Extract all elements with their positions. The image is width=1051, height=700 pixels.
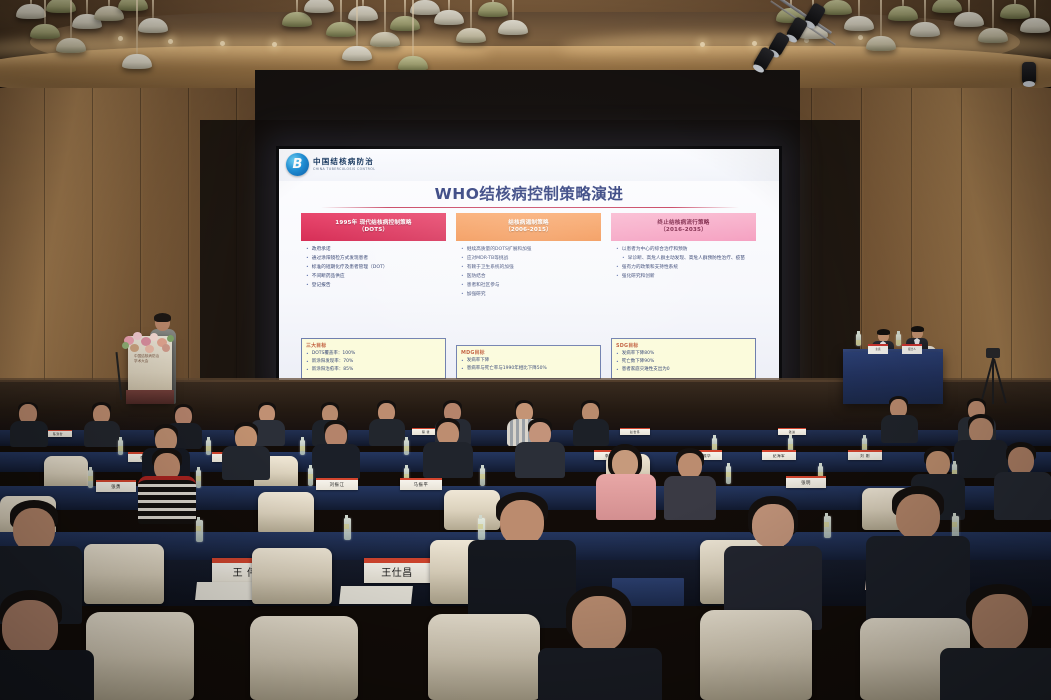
water-bottle (896, 334, 901, 346)
water-bottle (404, 440, 409, 455)
camera-tripod (978, 348, 1008, 404)
water-bottle (308, 468, 313, 486)
conference-hall-photo: B 中国结核病防治 CHINA TUBERCULOSIS CONTROL WHO… (0, 0, 1051, 700)
bullet-text: 患者和社区参与 (467, 282, 500, 289)
bullet-text: 不间断药品供应 (312, 273, 345, 280)
bullet-text: 有赖于卫生系统的加强 (467, 264, 514, 271)
column-header: 1995年 现代结核病控制策略 （DOTS） (301, 213, 446, 241)
bullet-text: 继续高质量的DOTS扩展和加强 (467, 246, 532, 253)
name-card: 张勇 (96, 480, 136, 492)
water-bottle (726, 466, 731, 484)
bullet-dot-icon: • (306, 273, 309, 280)
slide-header: B 中国结核病防治 CHINA TUBERCULOSIS CONTROL (279, 149, 779, 181)
pendant-lamp (132, 0, 134, 2)
water-bottle (196, 470, 201, 488)
pendant-lamp (924, 0, 926, 28)
bullet-dot-icon: • (616, 359, 619, 366)
water-bottle (300, 440, 305, 455)
bullet-text: 应对MDR-TB等挑战 (467, 255, 509, 262)
water-bottle (118, 440, 123, 455)
goal-item: •死亡数下降90% (616, 359, 751, 366)
stage-spotlight (1022, 62, 1036, 84)
pendant-lamp (356, 0, 358, 52)
bullet-text: 强化研究和创新 (622, 273, 655, 280)
pendant-lamp (296, 0, 298, 18)
audience-chair (44, 456, 88, 490)
audience-area: 陈洪智 宋民 程 锋 赵世伟 钱进 (0, 400, 1051, 700)
downlight (272, 42, 277, 47)
pendant-lamp (60, 0, 62, 4)
pendant-lamp (404, 0, 406, 22)
podium-plate-text: 中国结核病防治学术大会 (134, 354, 166, 374)
bullet-item: •加强研究 (461, 291, 598, 298)
bullet-dot-icon: • (306, 359, 309, 366)
bullet-item-sub: •早诊断、高危人群主动发现、高危人群预防性治疗、疫苗 (622, 255, 753, 262)
pendant-lamp (384, 0, 386, 38)
column-header-line1: 终止结核病流行策略 (657, 220, 709, 227)
audience-chair (444, 490, 500, 530)
goal-item: •新涂阳治愈率：85% (306, 367, 441, 374)
goal-item: •发病率下降80% (616, 351, 751, 358)
downlight (858, 35, 863, 40)
organization-logo: B 中国结核病防治 CHINA TUBERCULOSIS CONTROL (286, 153, 375, 176)
column-header-line2: （2006-2015） (505, 227, 552, 234)
pendant-lamp (492, 0, 494, 8)
video-camera-icon (986, 348, 1000, 358)
bullet-text: 早诊断、高危人群主动发现、高危人群预防性治疗、疫苗 (628, 255, 745, 262)
bullet-text: 加强研究 (467, 291, 486, 298)
goal-text: 发病率下降80% (622, 351, 655, 358)
downlight (752, 41, 757, 46)
bullet-text: 强有力的政策和支持性系统 (622, 264, 678, 271)
pendant-lamp (424, 0, 426, 6)
bullet-item: •政府承诺 (306, 246, 443, 253)
water-bottle (196, 520, 203, 542)
column-header-line2: （2016-2035） (660, 227, 707, 234)
water-bottle (344, 518, 351, 540)
pendant-lamp (86, 0, 88, 20)
speaker-hair (154, 313, 171, 322)
bullet-item: •医防结合 (461, 273, 598, 280)
column-bullets: •继续高质量的DOTS扩展和加强 •应对MDR-TB等挑战 •有赖于卫生系统的加… (456, 241, 601, 345)
pendant-lamp (902, 0, 904, 12)
pendant-lamp (512, 0, 514, 26)
goal-title: SDG目标 (616, 342, 751, 349)
goal-box: 三大目标 •DOTS覆盖率：100% •新涂阳发现率：70% •新涂阳治愈率：8… (301, 338, 446, 379)
name-card: 陈洪智 (44, 430, 72, 437)
water-bottle (824, 516, 831, 538)
pendant-lamp (318, 0, 320, 4)
document-papers (339, 586, 413, 604)
head-table-name-card: 报告人 (902, 344, 922, 354)
strategy-columns: 1995年 现代结核病控制策略 （DOTS） •政府承诺 •通过涂阳镜检方式发现… (301, 213, 757, 379)
name-card: 赵世伟 (620, 428, 650, 435)
pendant-lamp (152, 0, 154, 24)
bullet-dot-icon: • (616, 273, 619, 280)
audience-chair (258, 492, 314, 534)
bullet-dot-icon: • (461, 246, 464, 253)
logo-chinese-name: 中国结核病防治 (313, 158, 375, 167)
pendant-lamp (992, 0, 994, 34)
water-bottle (206, 440, 211, 455)
person-hair (911, 326, 924, 332)
pendant-lamp (412, 0, 414, 62)
name-card: 张明 (786, 476, 826, 488)
goal-title: 三大目标 (306, 342, 441, 349)
water-bottle (480, 468, 485, 486)
head-table-name-card: 主席 (868, 344, 888, 354)
goal-text: 患者家庭灾难性支出为0 (622, 367, 670, 374)
pendant-lamp (858, 0, 860, 22)
name-card-front: 王仕昌 (364, 558, 430, 583)
goal-box: MDG目标 •发病率下降 •患病率与死亡率与1990年相比下降50% (456, 345, 601, 379)
column-header-line1: 1995年 现代结核病控制策略 (335, 220, 411, 227)
bullet-dot-icon: • (306, 264, 309, 271)
goal-text: 新涂阳发现率：70% (312, 359, 354, 366)
presentation-slide: B 中国结核病防治 CHINA TUBERCULOSIS CONTROL WHO… (279, 149, 779, 387)
bullet-item: •有赖于卫生系统的加强 (461, 264, 598, 271)
pendant-lamp (880, 0, 882, 42)
bullet-text: 标准的短期化疗及患者管理（DOT） (312, 264, 388, 271)
logo-english-name: CHINA TUBERCULOSIS CONTROL (313, 167, 375, 171)
pendant-lamp (946, 0, 948, 4)
goal-item: •发病率下降 (461, 358, 596, 365)
name-card: 刘 刚 (848, 450, 882, 460)
name-card: 纪海军 (762, 450, 796, 460)
strategy-column-end-tb: 终止结核病流行策略 （2016-2035） •以患者为中心的综合治疗和预防 •早… (611, 213, 756, 379)
audience-chair-foreground (250, 616, 358, 700)
pendant-lamp (836, 0, 838, 6)
audience-chair-foreground (428, 614, 540, 700)
column-header: 结核病遏制策略 （2006-2015） (456, 213, 601, 241)
bullet-item: •通过涂阳镜检方式发现患者 (306, 255, 443, 262)
title-divider (321, 207, 739, 208)
water-bottle (478, 518, 485, 540)
water-bottle (856, 334, 861, 346)
bullet-dot-icon: • (306, 351, 309, 358)
pendant-lamp (1034, 0, 1036, 24)
bullet-dot-icon: • (461, 255, 464, 262)
goal-text: DOTS覆盖率：100% (312, 351, 355, 358)
downlight (700, 42, 705, 47)
bullet-dot-icon: • (461, 282, 464, 289)
podium-flower-arrangement (122, 330, 176, 356)
bullet-dot-icon: • (461, 358, 464, 365)
bullet-item: •继续高质量的DOTS扩展和加强 (461, 246, 598, 253)
column-header-line2: （DOTS） (359, 227, 389, 234)
pendant-lamp (968, 0, 970, 18)
downlight (220, 41, 225, 46)
pendant-lamp (448, 0, 450, 16)
bullet-item: •标准的短期化疗及患者管理（DOT） (306, 264, 443, 271)
goal-box: SDG目标 •发病率下降80% •死亡数下降90% •患者家庭灾难性支出为0 (611, 338, 756, 379)
bullet-item: •强化研究和创新 (616, 273, 753, 280)
bullet-dot-icon: • (461, 273, 464, 280)
goal-text: 新涂阳治愈率：85% (312, 367, 354, 374)
pendant-lamp (362, 0, 364, 12)
pendant-lamp (136, 0, 138, 60)
bullet-text: 医防结合 (467, 273, 486, 280)
name-card: 马振平 (400, 478, 442, 490)
pendant-lamp (340, 0, 342, 28)
goal-text: 患病率与死亡率与1990年相比下降50% (467, 366, 547, 373)
column-bullets: •政府承诺 •通过涂阳镜检方式发现患者 •标准的短期化疗及患者管理（DOT） •… (301, 241, 446, 338)
column-header-line1: 结核病遏制策略 (508, 220, 549, 227)
logo-mark-icon: B (286, 153, 309, 176)
strategy-column-dots: 1995年 现代结核病控制策略 （DOTS） •政府承诺 •通过涂阳镜检方式发现… (301, 213, 446, 379)
audience-chair-foreground (86, 612, 194, 700)
pendant-lamp (44, 0, 46, 30)
column-bullets: •以患者为中心的综合治疗和预防 •早诊断、高危人群主动发现、高危人群预防性治疗、… (611, 241, 756, 338)
bullet-dot-icon: • (616, 264, 619, 271)
bullet-dot-icon: • (306, 255, 309, 262)
goal-item: •新涂阳发现率：70% (306, 359, 441, 366)
goal-title: MDG目标 (461, 349, 596, 356)
bullet-item: •患者和社区参与 (461, 282, 598, 289)
pendant-lamp (470, 0, 472, 34)
water-bottle (88, 470, 93, 488)
bullet-item: •登记报告 (306, 282, 443, 289)
bullet-dot-icon: • (616, 246, 619, 253)
bullet-text: 通过涂阳镜检方式发现患者 (312, 255, 368, 262)
person-hair (877, 329, 890, 335)
bullet-text: 以患者为中心的综合治疗和预防 (622, 246, 688, 253)
goal-text: 死亡数下降90% (622, 359, 655, 366)
goal-item: •DOTS覆盖率：100% (306, 351, 441, 358)
audience-chair-front (252, 548, 332, 604)
slide-title: WHO结核病控制策略演进 (279, 182, 779, 204)
name-card: 刘振江 (316, 478, 358, 490)
water-bottle (952, 516, 959, 538)
pendant-lamp (30, 0, 32, 10)
audience-chair-foreground (700, 610, 812, 700)
pendant-lamp (1014, 0, 1016, 10)
bullet-dot-icon: • (306, 282, 309, 289)
bullet-dot-icon: • (622, 255, 625, 262)
goal-item: •患者家庭灾难性支出为0 (616, 367, 751, 374)
pendant-lamp (108, 0, 110, 12)
column-header: 终止结核病流行策略 （2016-2035） (611, 213, 756, 241)
bullet-dot-icon: • (616, 367, 619, 374)
bullet-item: •以患者为中心的综合治疗和预防 (616, 246, 753, 253)
name-card: 钱进 (778, 428, 806, 435)
bullet-item: •强有力的政策和支持性系统 (616, 264, 753, 271)
downlight (168, 39, 173, 44)
bullet-dot-icon: • (306, 246, 309, 253)
bullet-dot-icon: • (461, 366, 464, 373)
bullet-text: 登记报告 (312, 282, 331, 289)
bullet-dot-icon: • (461, 264, 464, 271)
audience-chair-front (84, 544, 164, 604)
downlight (118, 36, 123, 41)
bullet-dot-icon: • (461, 291, 464, 298)
bullet-dot-icon: • (616, 351, 619, 358)
bullet-text: 政府承诺 (312, 246, 331, 253)
goal-text: 发病率下降 (467, 358, 490, 365)
pendant-lamp (70, 0, 72, 44)
goal-item: •患病率与死亡率与1990年相比下降50% (461, 366, 596, 373)
bullet-item: •应对MDR-TB等挑战 (461, 255, 598, 262)
strategy-column-stop-tb: 结核病遏制策略 （2006-2015） •继续高质量的DOTS扩展和加强 •应对… (456, 213, 601, 379)
bullet-item: •不间断药品供应 (306, 273, 443, 280)
bullet-dot-icon: • (306, 367, 309, 374)
